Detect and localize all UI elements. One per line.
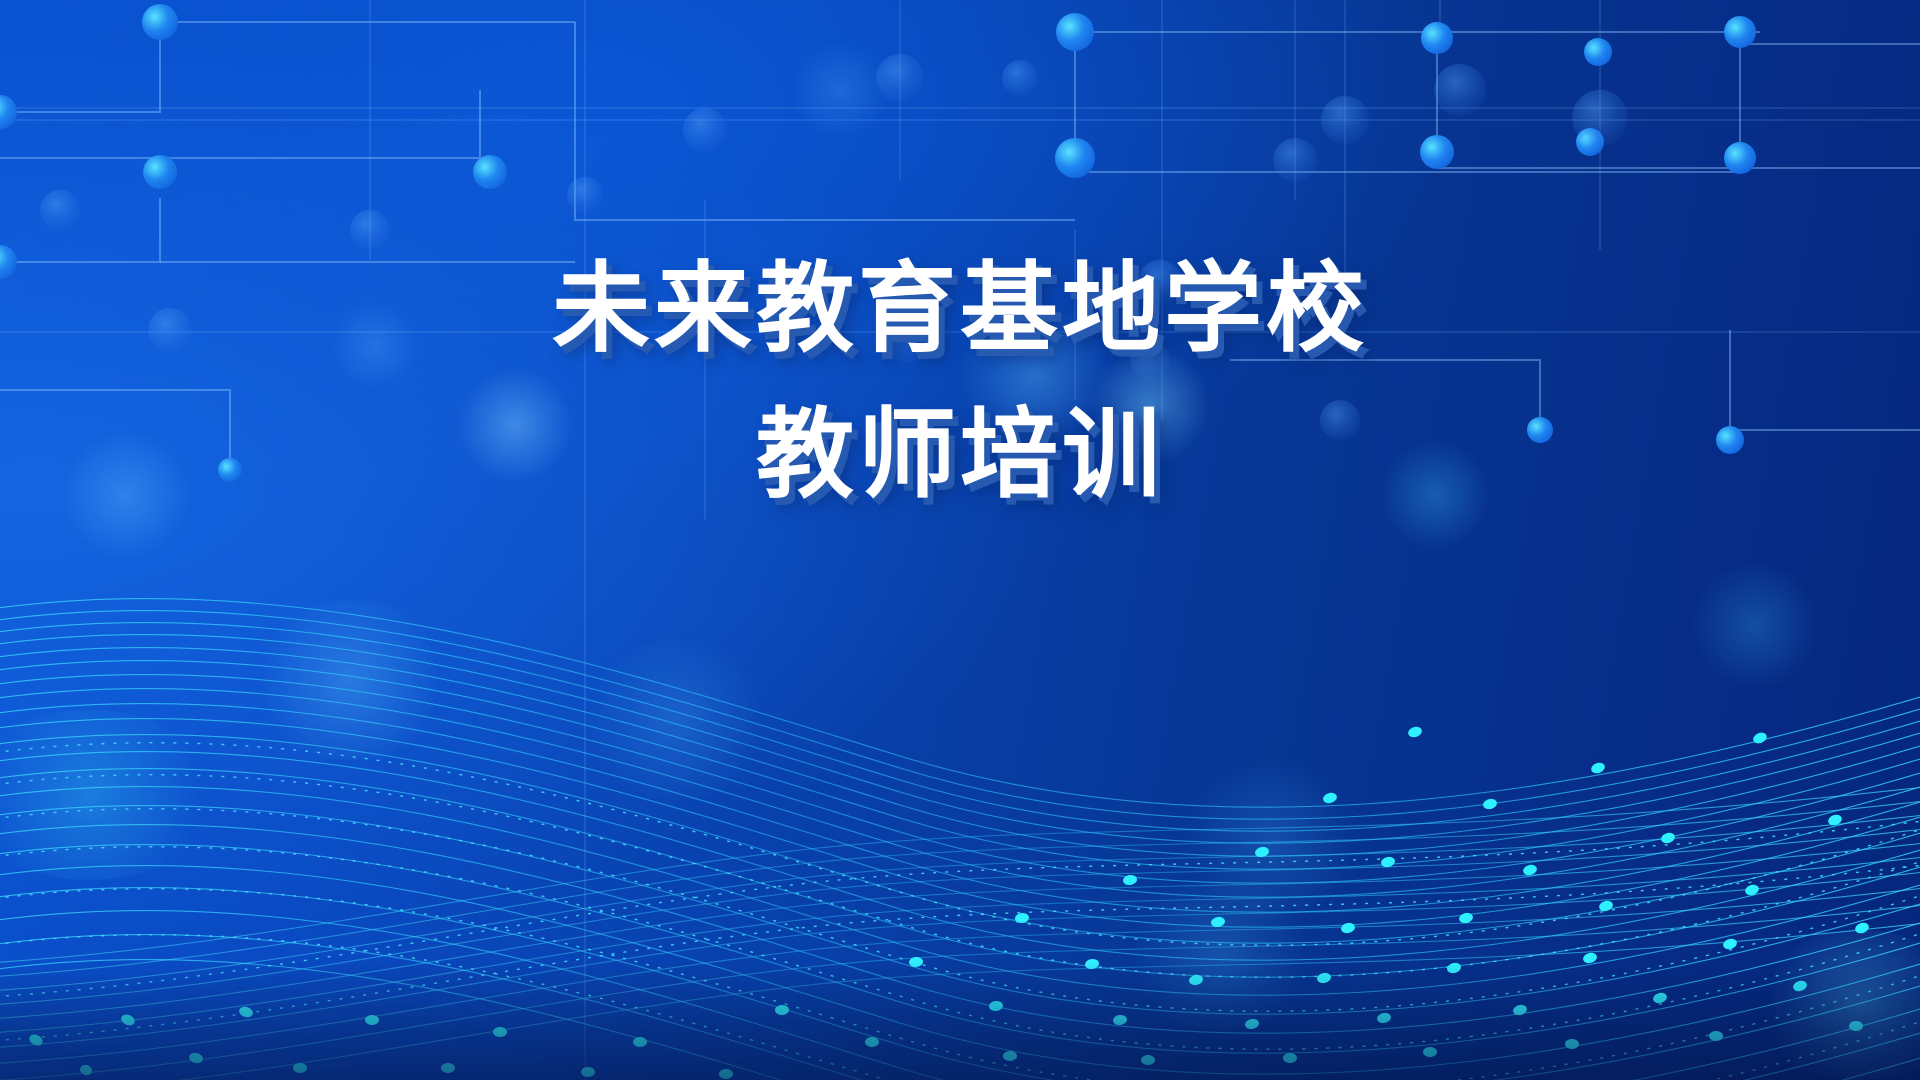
- glow-blob: [1690, 560, 1820, 690]
- slide-title: 未来教育基地学校 教师培训: [0, 238, 1920, 524]
- glow-blob: [1750, 930, 1920, 1080]
- title-line-2: 教师培训: [0, 384, 1920, 524]
- glow-blob: [250, 600, 450, 760]
- glow-blob: [1180, 760, 1360, 920]
- circuit-pattern: [0, 0, 1920, 1080]
- glow-blob: [0, 710, 220, 880]
- wave-mesh-decoration: [0, 520, 1920, 1080]
- glow-blob: [580, 640, 770, 800]
- bottom-reflection: [0, 960, 1920, 1080]
- presentation-slide: 未来教育基地学校 教师培训: [0, 0, 1920, 1080]
- title-line-1: 未来教育基地学校: [0, 238, 1920, 378]
- glow-blob: [1120, 880, 1320, 1030]
- glow-blob: [790, 40, 890, 140]
